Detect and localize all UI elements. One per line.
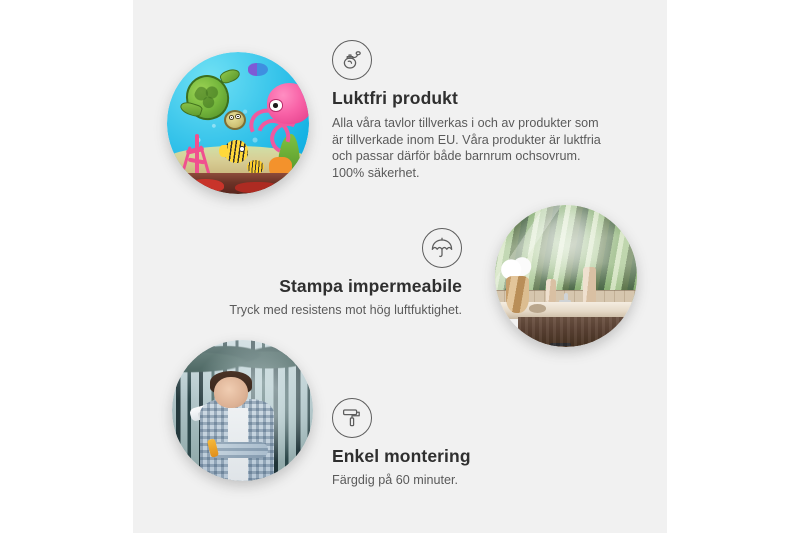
wooden-vanity [518, 317, 637, 347]
vase [506, 276, 529, 313]
painter-forest-circle [172, 340, 313, 481]
sea-bottom-band [167, 173, 309, 194]
underwater-cartoon-circle [167, 52, 309, 194]
tall-bottle [583, 267, 596, 304]
purple-fish [248, 63, 268, 76]
feature-title: Stampa impermeabile [190, 276, 462, 297]
small-bottle [546, 279, 556, 302]
feature-waterproof: Stampa impermeabile Tryck med resistens … [190, 228, 462, 319]
umbrella-icon [422, 228, 462, 268]
bathroom-botanical-circle [495, 205, 637, 347]
feature-title: Enkel montering [332, 446, 582, 467]
feature-description: Tryck med resistens mot hög luftfuktighe… [190, 302, 462, 319]
feature-odourless: Luktfri produkt Alla våra tavlor tillver… [332, 40, 622, 181]
paint-roller-icon [332, 398, 372, 438]
painter-face [214, 377, 248, 408]
octopus [252, 83, 309, 148]
yellow-striped-fish [224, 140, 248, 163]
feature-title: Luktfri produkt [332, 88, 622, 109]
soap-dish [529, 304, 546, 313]
feature-assembly: Enkel montering Färgdig på 60 minuter. [332, 398, 582, 489]
feature-description: Färgdig på 60 minuter. [332, 472, 582, 489]
feature-description: Alla våra tavlor tillverkas i och av pro… [332, 115, 613, 181]
no-smell-icon [332, 40, 372, 80]
turtle [178, 72, 243, 132]
promo-graphic: Luktfri produkt Alla våra tavlor tillver… [0, 0, 800, 533]
